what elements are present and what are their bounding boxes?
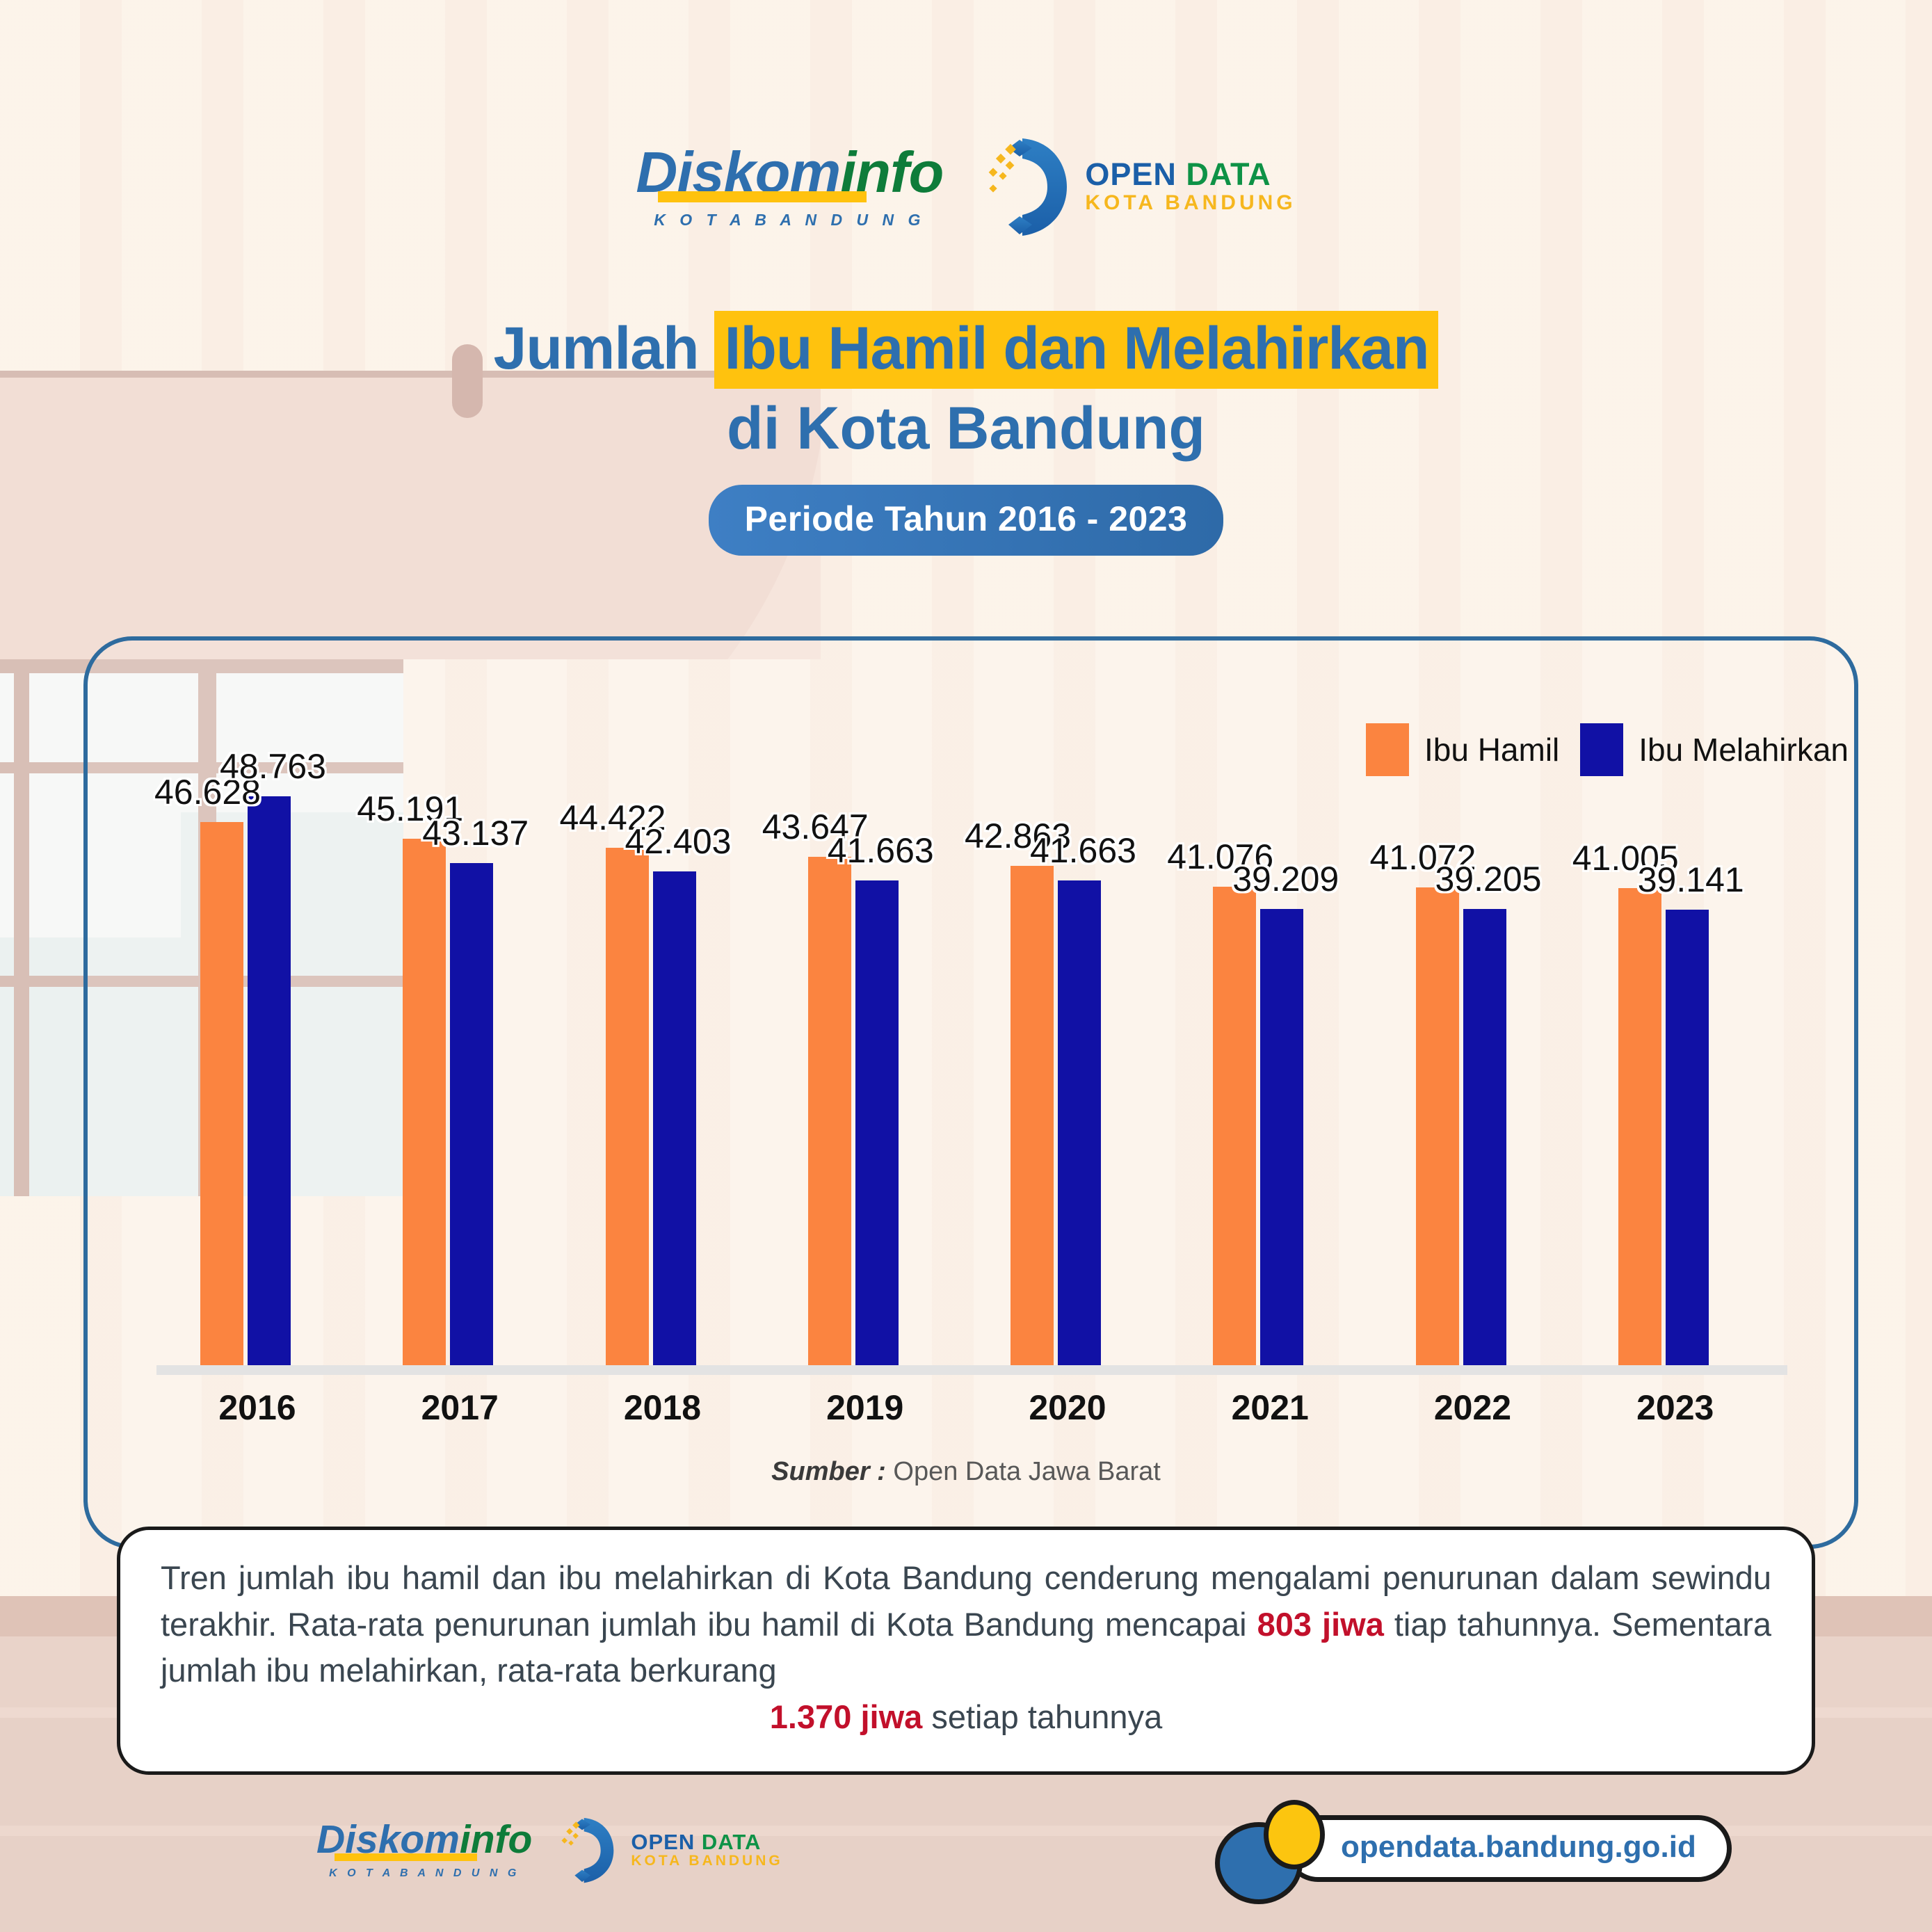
bar-ibu-melahirkan [1260,909,1303,1370]
opendata-subtitle: KOTA BANDUNG [1085,192,1296,214]
bar-value-label-ibu-melahirkan: 48.763 [220,746,326,787]
bar-ibu-hamil [606,848,649,1370]
diskominfo-underline [658,191,867,202]
website-url-badge[interactable]: opendata.bandung.go.id [1214,1800,1732,1897]
x-axis-label: 2018 [586,1387,739,1428]
bar-group: 41.07639.209 [1193,723,1346,1370]
x-axis-label: 2023 [1599,1387,1752,1428]
x-axis-label: 2019 [789,1387,942,1428]
x-axis-label: 2022 [1396,1387,1549,1428]
bar-value-label-ibu-melahirkan: 39.205 [1435,859,1542,899]
title-line-1: Jumlah Ibu Hamil dan Melahirkan [0,316,1932,381]
bar-ibu-hamil [403,839,446,1370]
footer-opendata-word-data: DATA [702,1830,762,1854]
source-value: Open Data Jawa Barat [893,1457,1160,1486]
opendata-word-data: DATA [1186,156,1271,192]
website-url-text[interactable]: opendata.bandung.go.id [1285,1815,1732,1882]
bar-ibu-hamil [1416,887,1459,1370]
footer-logo-opendata: OPEN DATA KOTA BANDUNG [560,1815,782,1885]
bar-ibu-hamil [1011,866,1054,1370]
bar-group: 42.86341.663 [991,723,1144,1370]
insight-highlight-2: 1.370 jiwa [770,1698,923,1735]
logo-opendata: OPEN DATA KOTA BANDUNG [986,134,1296,239]
footer-opendata-wordmark: OPEN DATA KOTA BANDUNG [631,1830,782,1869]
bar-value-label-ibu-melahirkan: 41.663 [1030,830,1136,871]
insight-paragraph-last: 1.370 jiwa setiap tahunnya [161,1694,1771,1741]
bar-ibu-melahirkan [1463,909,1506,1370]
period-badge: Periode Tahun 2016 - 2023 [709,485,1224,556]
page-title: Jumlah Ibu Hamil dan Melahirkan di Kota … [0,316,1932,556]
diskominfo-subtitle: K O T A B A N D U N G [654,211,925,230]
insight-part-3: setiap tahunnya [922,1698,1162,1735]
insight-paragraph: Tren jumlah ibu hamil dan ibu melahirkan… [161,1555,1771,1694]
chart-source: Sumber : Open Data Jawa Barat [0,1457,1932,1487]
bar-value-label-ibu-melahirkan: 39.209 [1232,859,1339,899]
footer-diskominfo-underline [335,1853,477,1861]
bar-ibu-melahirkan [1666,910,1709,1370]
footer-diskominfo-subtitle: K O T A B A N D U N G [329,1867,520,1880]
bar-group: 43.64741.663 [789,723,942,1370]
opendata-venn-icon [1214,1800,1318,1897]
bar-value-label-ibu-melahirkan: 43.137 [422,813,529,853]
footer-opendata-word-open: OPEN [631,1830,695,1854]
footer-logos: Diskominfo K O T A B A N D U N G [316,1815,783,1885]
bar-value-label-ibu-melahirkan: 42.403 [625,821,732,862]
title-highlight-text: Ibu Hamil dan Melahirkan [714,311,1438,389]
title-line-2: di Kota Bandung [0,396,1932,461]
bar-ibu-melahirkan [1058,880,1101,1370]
x-axis-label: 2021 [1193,1387,1346,1428]
insight-highlight-1: 803 jiwa [1257,1606,1384,1643]
bar-group: 46.62848.763 [181,723,334,1370]
opendata-bracket-icon [986,134,1070,239]
bar-ibu-hamil [1213,887,1256,1370]
bar-ibu-hamil [1618,888,1661,1370]
bar-ibu-melahirkan [855,880,899,1370]
header-logos: Diskominfo K O T A B A N D U N G [0,111,1932,261]
bar-group: 45.19143.137 [383,723,536,1370]
insight-note-box: Tren jumlah ibu hamil dan ibu melahirkan… [117,1527,1815,1775]
opendata-wordmark: OPEN DATA KOTA BANDUNG [1085,158,1296,214]
bar-group: 44.42242.403 [586,723,739,1370]
footer-opendata-subtitle: KOTA BANDUNG [631,1853,782,1869]
bar-value-label-ibu-melahirkan: 39.141 [1638,860,1744,900]
title-plain-text: Jumlah [494,315,715,382]
chart-plot-area: 46.62848.76345.19143.13744.42242.40343.6… [160,723,1780,1370]
logo-diskominfo: Diskominfo K O T A B A N D U N G [636,143,943,230]
bar-value-label-ibu-melahirkan: 41.663 [828,830,934,871]
opendata-word-open: OPEN [1085,156,1177,192]
bar-ibu-melahirkan [248,796,291,1370]
venn-circle-yellow [1264,1800,1325,1869]
bar-ibu-hamil [808,857,851,1370]
chart-baseline [156,1365,1787,1375]
source-label: Sumber : [771,1457,886,1486]
x-axis-label: 2016 [181,1387,334,1428]
footer-opendata-bracket-icon [560,1815,615,1885]
chart-x-axis-labels: 20162017201820192020202120222023 [160,1387,1780,1436]
bar-ibu-melahirkan [450,863,493,1370]
bar-group: 41.00539.141 [1599,723,1752,1370]
bar-ibu-melahirkan [653,871,696,1370]
x-axis-label: 2020 [991,1387,1144,1428]
x-axis-label: 2017 [383,1387,536,1428]
footer-logo-diskominfo: Diskominfo K O T A B A N D U N G [316,1820,532,1880]
bar-group: 41.07239.205 [1396,723,1549,1370]
bar-ibu-hamil [200,822,243,1370]
